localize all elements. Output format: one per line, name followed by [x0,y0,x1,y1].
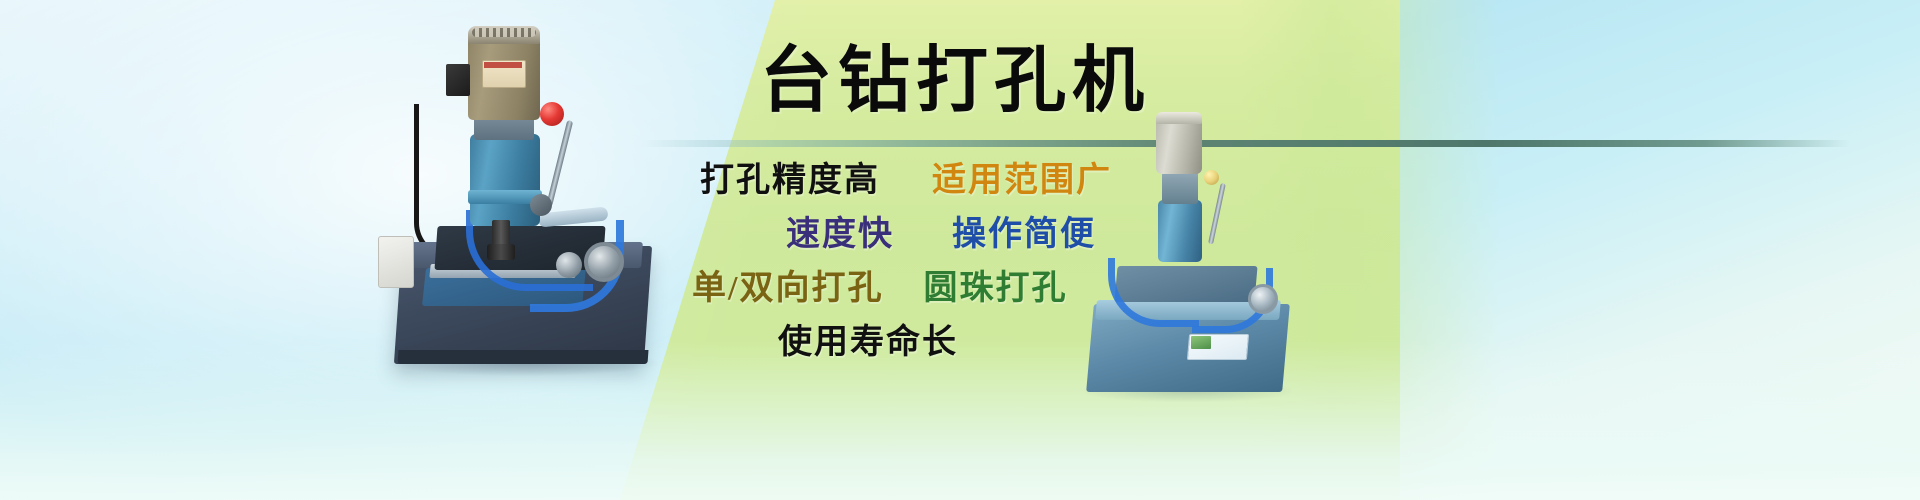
left-handwheel-small [556,252,582,278]
right-info-card-thumbnail [1191,336,1211,349]
left-drill-head [470,134,540,226]
left-control-box [378,236,414,288]
left-drill-chuck [487,244,515,260]
left-feed-lever-hub [530,194,552,216]
feature-item: 单/双向打孔 [692,260,883,309]
right-motor [1156,118,1202,174]
right-drill-head [1158,200,1202,262]
left-junction-box [446,64,470,96]
left-machine-base-edge [398,350,649,364]
left-motor-vents [472,28,536,37]
feature-item: 打孔精度高 [700,152,880,201]
right-drill-neck [1162,172,1198,204]
feature-item: 使用寿命长 [778,314,958,363]
right-motor-cap [1156,112,1202,124]
feature-item: 圆珠打孔 [923,260,1067,309]
feature-item: 操作简便 [952,206,1096,255]
right-feed-lever-knob [1204,170,1219,185]
right-feed-lever-rod [1208,183,1226,245]
left-motor-warning-sticker [484,62,522,68]
left-handwheel [584,242,624,282]
left-feed-lever-knob [540,102,564,126]
promo-banner: 台钻打孔机 打孔精度高 适用范围广 速度快 操作简便 单/双向打孔 圆珠打孔 使… [0,0,1920,500]
right-product-image [1080,108,1310,400]
left-feed-lever-rod [546,120,573,207]
left-product-image [370,14,670,384]
feature-item: 速度快 [786,206,894,255]
right-handwheel [1248,284,1278,314]
